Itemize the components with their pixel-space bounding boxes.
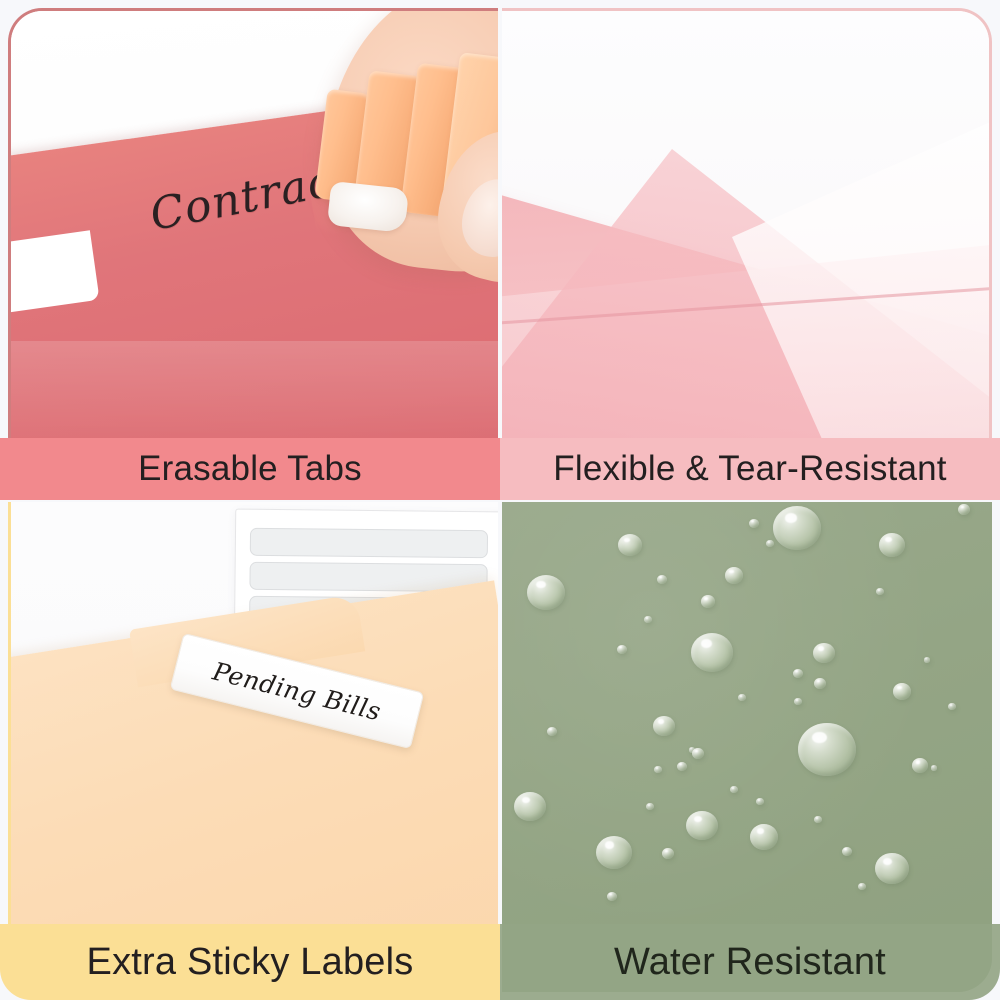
- water-droplet: [924, 657, 930, 663]
- water-droplet: [686, 811, 718, 840]
- water-droplet: [948, 703, 956, 710]
- panel-erasable-tabs: Contract Erasable Tabs: [0, 0, 500, 500]
- caption-erasable-tabs: Erasable Tabs: [0, 438, 500, 500]
- caption-water-resistant: Water Resistant: [500, 924, 1000, 1000]
- water-droplet: [514, 792, 546, 821]
- feature-grid: Contract Erasable Tabs: [0, 0, 1000, 1000]
- water-droplet: [893, 683, 911, 700]
- water-droplet: [794, 698, 802, 705]
- water-droplet: [607, 892, 617, 901]
- caption-extra-sticky-labels: Extra Sticky Labels: [0, 924, 500, 1000]
- water-droplet: [692, 748, 704, 759]
- water-droplet: [879, 533, 905, 557]
- water-droplet: [749, 519, 759, 528]
- water-droplets-photo: [502, 502, 992, 992]
- water-droplet: [653, 716, 675, 736]
- sticky-labels-photo: Pending Bills: [11, 502, 498, 989]
- panel-extra-sticky-labels: Pending Bills Extra Sticky Labels: [0, 500, 500, 1000]
- water-droplet: [912, 758, 928, 773]
- label-strip: [250, 528, 488, 558]
- water-droplet: [618, 534, 642, 556]
- water-droplet: [814, 678, 826, 689]
- eraser-tip: [327, 181, 409, 233]
- panel-erasable-tabs-frame: Contract: [8, 8, 498, 498]
- water-droplet: [766, 540, 774, 547]
- flexible-sheets-photo: [502, 11, 989, 498]
- water-droplet: [773, 506, 821, 550]
- water-droplet: [725, 567, 743, 584]
- water-droplet: [617, 645, 627, 654]
- water-droplet: [547, 727, 557, 736]
- water-droplet: [738, 694, 746, 701]
- water-droplet: [876, 588, 884, 595]
- panel-flexible-tear-resistant: Flexible & Tear-Resistant: [500, 0, 1000, 500]
- water-droplet: [798, 723, 856, 776]
- water-droplet: [756, 798, 764, 805]
- panel-water-resistant: Water Resistant: [500, 500, 1000, 1000]
- water-droplet: [646, 803, 654, 810]
- water-droplet: [814, 816, 822, 823]
- water-droplet: [662, 848, 674, 859]
- water-droplet: [842, 847, 852, 856]
- water-droplet: [691, 633, 733, 672]
- water-droplet: [813, 643, 835, 663]
- caption-flexible-tear-resistant: Flexible & Tear-Resistant: [500, 438, 1000, 500]
- erasable-tabs-photo: Contract: [11, 11, 498, 498]
- water-droplet: [793, 669, 803, 678]
- infographic-root: Contract Erasable Tabs: [0, 0, 1000, 1000]
- water-droplet: [931, 765, 937, 771]
- water-droplet: [654, 766, 662, 773]
- water-droplet: [701, 595, 715, 608]
- water-droplet: [527, 575, 565, 610]
- panel-flexible-frame: [502, 8, 992, 498]
- water-droplet: [958, 504, 970, 515]
- water-droplet: [875, 853, 909, 884]
- water-droplet: [596, 836, 632, 869]
- water-droplet: [858, 883, 866, 890]
- water-droplet: [644, 616, 652, 623]
- panel-water-resistant-frame: [502, 502, 992, 992]
- panel-sticky-labels-frame: Pending Bills: [8, 502, 498, 992]
- water-droplet: [657, 575, 667, 584]
- water-droplet: [730, 786, 738, 793]
- water-droplet: [750, 824, 778, 850]
- water-droplet: [677, 762, 687, 771]
